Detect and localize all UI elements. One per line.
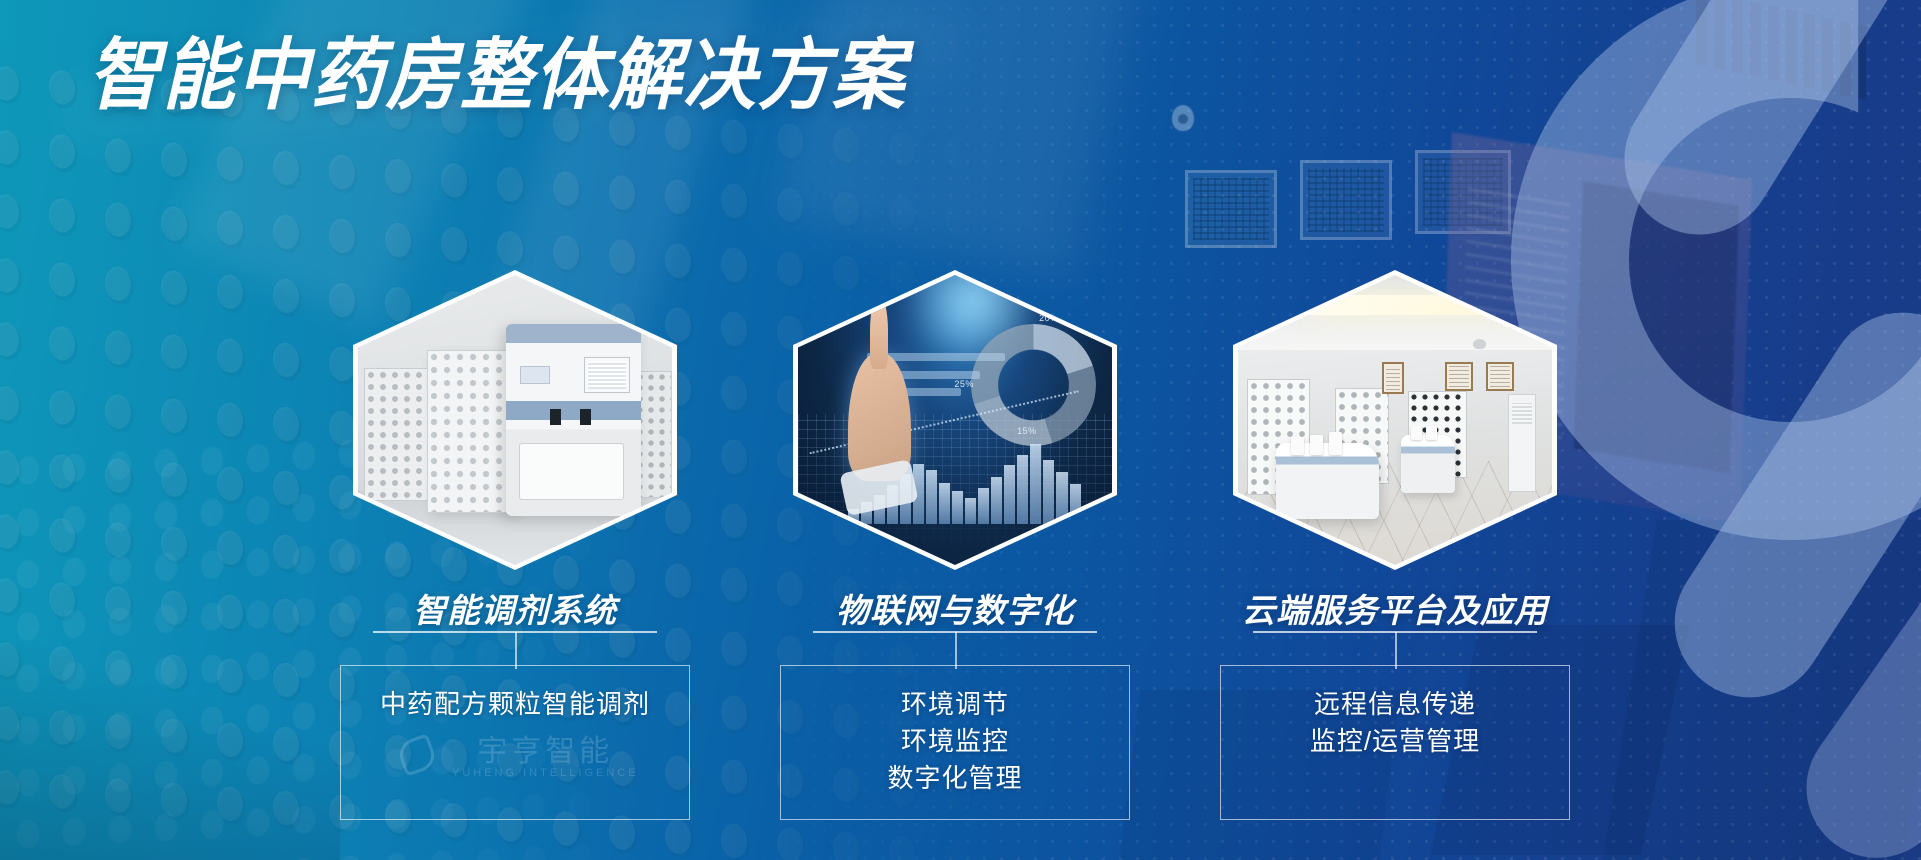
feature-item: 环境调节 (901, 686, 1009, 723)
photo-smart-pharmacy-room (1238, 275, 1552, 565)
feature-box-2: 环境调节 环境监控 数字化管理 (780, 665, 1130, 820)
caption-stem-1 (515, 632, 517, 669)
caption-stem-3 (1395, 632, 1397, 669)
hexagon-frame-1[interactable] (353, 270, 677, 570)
banner-root: 智能中药房整体解决方案 (0, 0, 1921, 860)
feature-item: 中药配方颗粒智能调剂 (380, 686, 650, 723)
feature-caption-3: 云端服务平台及应用 (1242, 584, 1548, 632)
page-title: 智能中药房整体解决方案 (88, 36, 906, 114)
feature-box-3: 远程信息传递 监控/运营管理 (1220, 665, 1570, 820)
feature-caption-1: 智能调剂系统 (413, 584, 617, 632)
hexagon-frame-3[interactable] (1233, 270, 1557, 570)
feature-item: 环境监控 (901, 723, 1009, 760)
feature-item: 数字化管理 (887, 760, 1022, 797)
hexagon-photo-clip (358, 275, 672, 565)
hexagon-photo-clip: 20% 25% 15% (798, 275, 1112, 565)
hexagon-photo-clip (1238, 275, 1552, 565)
photo-dispensing-machines (358, 275, 672, 565)
feature-box-1: 中药配方颗粒智能调剂 (340, 665, 690, 820)
photo-iot-dashboard: 20% 25% 15% (798, 275, 1112, 565)
background-corner-shade (0, 640, 340, 860)
feature-item: 远程信息传递 (1314, 686, 1476, 723)
feature-caption-2: 物联网与数字化 (836, 584, 1074, 632)
feature-item: 监控/运营管理 (1310, 723, 1480, 760)
caption-stem-2 (955, 632, 957, 669)
hexagon-frame-2[interactable]: 20% 25% 15% (793, 270, 1117, 570)
